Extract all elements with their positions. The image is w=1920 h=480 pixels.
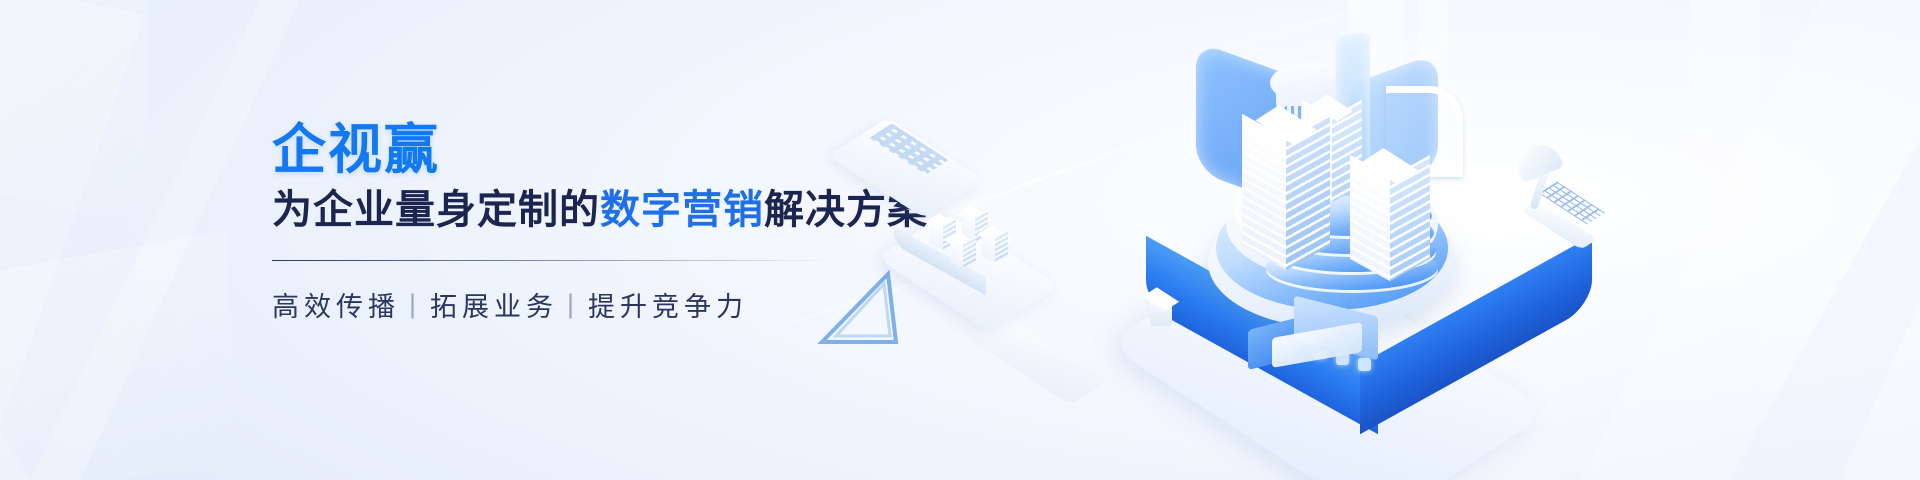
- headline-highlight: 数字营销: [600, 188, 764, 232]
- mini-building: [982, 224, 1008, 254]
- mini-building-tray: [890, 206, 1080, 292]
- base-pillar: [1148, 286, 1174, 326]
- lamp-head: [1512, 139, 1564, 183]
- headline-lead: 为企业量身定制的: [272, 188, 600, 232]
- blue-folded-papers: [1248, 300, 1398, 370]
- divider-line: [272, 260, 832, 261]
- hero-illustration: [1020, 0, 1920, 480]
- tagline-item-2: 提升竞争力: [588, 285, 748, 324]
- mini-building: [950, 230, 976, 260]
- desk-lamp-arm: [1490, 140, 1620, 250]
- bg-soft-panel: [0, 230, 230, 480]
- keyboard-slab: [850, 112, 1010, 192]
- hero-banner: 企视赢 为企业量身定制的数字营销解决方案 高效传播 | 拓展业务 | 提升竞争力: [0, 0, 1920, 480]
- tagline-separator: |: [567, 289, 574, 320]
- tagline-item-0: 高效传播: [272, 285, 400, 324]
- bg-soft-panel: [0, 0, 150, 226]
- tagline-item-1: 拓展业务: [430, 285, 558, 324]
- tagline-separator: |: [409, 289, 416, 320]
